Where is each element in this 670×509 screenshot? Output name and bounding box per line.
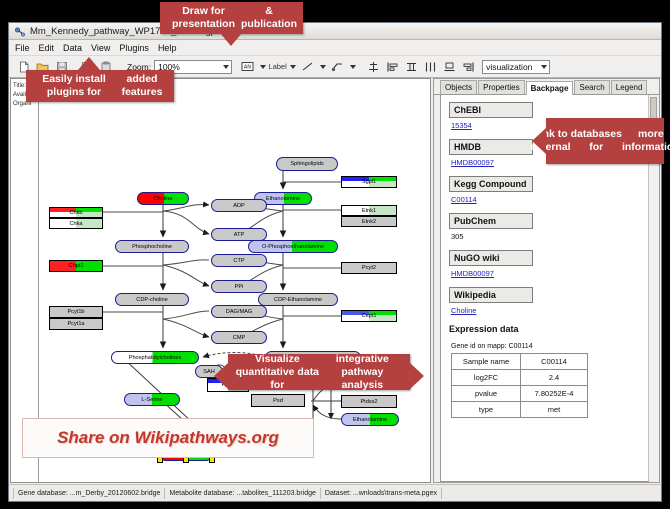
metabolite-node-o-phosphoethanolamine[interactable]: O-Phosphoethanolamine xyxy=(248,240,338,253)
chevron-down-icon xyxy=(320,65,326,69)
section-header-chebi: ChEBI xyxy=(449,102,533,118)
tab-backpage[interactable]: Backpage xyxy=(526,81,574,95)
menu-item-data[interactable]: Data xyxy=(63,43,82,53)
screenshot-root: Mm_Kennedy_pathway_WP1771_45176.gpml Fil… xyxy=(0,0,670,509)
node-label: Ethanolamine xyxy=(266,196,300,202)
chevron-down-icon xyxy=(260,65,266,69)
gene-node-ptdss2[interactable]: Ptdss2 xyxy=(341,395,397,408)
gene-node-chpt1[interactable]: Chpt1 xyxy=(49,260,103,272)
interaction-dropdown[interactable] xyxy=(347,57,358,76)
chevron-down-icon xyxy=(350,65,356,69)
gene-node-etnk1[interactable]: Etnk1 xyxy=(341,205,397,216)
gene-node-pcyt1a[interactable]: Pcyt1a xyxy=(49,318,103,330)
gene-node-cept1[interactable]: Cept1 xyxy=(341,310,397,322)
expr-value: met xyxy=(521,402,588,418)
status-dataset: Dataset: ...wnloads\trans-meta.pgex xyxy=(321,488,442,499)
node-label: Cept1 xyxy=(362,313,377,319)
status-metabolite-database: Metabolite database: ...tabolites_111203… xyxy=(165,488,320,499)
metabolite-node-sphingolipids[interactable]: Sphingolipids xyxy=(276,157,338,171)
align-right-icon[interactable] xyxy=(459,57,478,76)
section-header-kegg: Kegg Compound xyxy=(449,176,533,192)
node-label: Ethanolamine xyxy=(353,417,387,423)
section-header-hmdb: HMDB xyxy=(449,139,533,155)
expression-table: Sample name C00114 log2FC 2.4 pvalue 7.8… xyxy=(451,353,588,418)
gene-node-etnk2[interactable]: Etnk2 xyxy=(341,216,397,227)
chevron-down-icon xyxy=(541,65,547,69)
interaction-icon[interactable] xyxy=(328,57,347,76)
pubchem-value: 305 xyxy=(451,232,640,241)
expr-key: type xyxy=(452,402,521,418)
gene-node-psd[interactable]: Psd xyxy=(251,394,305,407)
node-label: Sphingolipids xyxy=(290,161,323,167)
expr-key: log2FC xyxy=(452,370,521,386)
node-label: Ptdss2 xyxy=(360,399,377,405)
callout-plugins: Easily install plugins foradded features xyxy=(26,70,174,102)
node-label: CMP xyxy=(233,335,245,341)
gene-id-line: Gene id on mapp: C00114 xyxy=(451,343,640,350)
node-label: Phosphatidylcholines xyxy=(129,355,182,361)
node-label: Pcyt2 xyxy=(362,265,376,271)
gene-node-chka[interactable]: Chka xyxy=(49,218,103,229)
share-text: Share on Wikipathways.org xyxy=(57,428,279,448)
callout-draw-arrow xyxy=(220,33,242,46)
menu-item-edit[interactable]: Edit xyxy=(39,43,55,53)
expr-key: Sample name xyxy=(452,354,521,370)
wikipedia-link[interactable]: Choline xyxy=(451,306,640,315)
metabolite-node-phosphatidylcholines[interactable]: Phosphatidylcholines xyxy=(111,351,199,364)
node-label: Pcyt1a xyxy=(67,321,84,327)
expr-value: C00114 xyxy=(521,354,588,370)
node-label: Pcyt1b xyxy=(67,309,84,315)
gene-node-pcyt2[interactable]: Pcyt2 xyxy=(341,262,397,274)
expr-key: pvalue xyxy=(452,386,521,402)
table-row: type met xyxy=(452,402,588,418)
table-row: log2FC 2.4 xyxy=(452,370,588,386)
node-label: CDP-choline xyxy=(136,297,167,303)
callout-draw: Draw for presentation& publication xyxy=(160,2,303,34)
callout-share: Share on Wikipathways.org xyxy=(22,418,314,458)
node-label: ATP xyxy=(234,232,244,238)
node-label: Choline xyxy=(154,196,173,202)
tab-legend[interactable]: Legend xyxy=(611,80,648,94)
table-row: pvalue 7.80252E-4 xyxy=(452,386,588,402)
node-label: O-Phosphoethanolamine xyxy=(262,244,324,250)
node-label: Sgpl1 xyxy=(362,179,376,185)
node-label: PPi xyxy=(235,284,244,290)
node-label: CTP xyxy=(233,258,244,264)
node-label: Etnk1 xyxy=(362,208,376,214)
node-label: Psd xyxy=(273,398,283,404)
node-label: Phosphocholine xyxy=(132,244,172,250)
node-label: DAG/MAG xyxy=(226,309,252,315)
menu-item-file[interactable]: File xyxy=(15,43,30,53)
tab-search[interactable]: Search xyxy=(574,80,609,94)
menu-bar[interactable]: File Edit Data View Plugins Help xyxy=(9,40,661,56)
label-dropdown[interactable] xyxy=(287,57,298,76)
status-gene-database: Gene database: ...m_Derby_20120602.bridg… xyxy=(13,488,165,499)
label-icon[interactable]: Label xyxy=(268,57,287,76)
expression-data-heading: Expression data xyxy=(449,324,640,334)
distribute-vertical-icon[interactable] xyxy=(402,57,421,76)
app-icon xyxy=(14,26,25,37)
metabolite-node-ethanolamine-bottom[interactable]: Ethanolamine xyxy=(341,413,399,426)
metabolite-node-ctp[interactable]: CTP xyxy=(211,254,267,267)
gene-node-chkb[interactable]: Chkb xyxy=(49,207,103,218)
nugo-link[interactable]: HMDB00097 xyxy=(451,269,640,278)
chevron-down-icon xyxy=(223,65,229,69)
line-dropdown[interactable] xyxy=(317,57,328,76)
callout-plugins-arrow xyxy=(78,57,100,70)
table-row: Sample name C00114 xyxy=(452,354,588,370)
node-label: Chkb xyxy=(69,210,82,216)
expr-value: 7.80252E-4 xyxy=(521,386,588,402)
datanode-dropdown[interactable] xyxy=(257,57,268,76)
section-header-nugo: NuGO wiki xyxy=(449,250,533,266)
tab-objects[interactable]: Objects xyxy=(440,80,477,94)
align-center-icon[interactable] xyxy=(364,57,383,76)
metabolite-node-cmp[interactable]: CMP xyxy=(211,331,267,344)
visualization-value: visualization xyxy=(486,62,532,72)
align-bottom-icon[interactable] xyxy=(440,57,459,76)
datanode-icon[interactable]: AN xyxy=(238,57,257,76)
align-left-icon[interactable] xyxy=(383,57,402,76)
status-bar: Gene database: ...m_Derby_20120602.bridg… xyxy=(9,484,661,501)
svg-text:AN: AN xyxy=(244,65,251,71)
kegg-link[interactable]: C00114 xyxy=(451,195,640,204)
side-panel-tabs[interactable]: Objects Properties Backpage Search Legen… xyxy=(434,79,659,95)
metabolite-node-cdp-choline[interactable]: CDP-choline xyxy=(115,293,189,306)
distribute-horizontal-icon[interactable] xyxy=(421,57,440,76)
node-label: L-Serine xyxy=(141,397,162,403)
metabolite-node-ppi[interactable]: PPi xyxy=(211,280,267,293)
metabolite-node-phosphocholine[interactable]: Phosphocholine xyxy=(115,240,189,253)
section-header-wikipedia: Wikipedia xyxy=(449,287,533,303)
metabolite-node-choline-top[interactable]: Choline xyxy=(137,192,189,205)
title-bar: Mm_Kennedy_pathway_WP1771_45176.gpml xyxy=(9,23,661,40)
callout-link-arrow xyxy=(532,128,546,154)
gene-node-sgpl1[interactable]: Sgpl1 xyxy=(341,176,397,188)
node-label: ADP xyxy=(233,203,245,209)
line-icon[interactable] xyxy=(298,57,317,76)
tab-properties[interactable]: Properties xyxy=(478,80,524,94)
menu-item-view[interactable]: View xyxy=(91,43,110,53)
metabolite-node-adp[interactable]: ADP xyxy=(211,199,267,212)
menu-item-plugins[interactable]: Plugins xyxy=(119,43,149,53)
metabolite-node-cdp-ethanolamine[interactable]: CDP-Ethanolamine xyxy=(258,293,338,306)
node-label: CDP-Ethanolamine xyxy=(274,297,322,303)
metabolite-node-dag-mag[interactable]: DAG/MAG xyxy=(211,305,267,318)
node-label: Etnk2 xyxy=(362,219,376,225)
section-header-pubchem: PubChem xyxy=(449,213,533,229)
gene-node-pcyt1b[interactable]: Pcyt1b xyxy=(49,306,103,318)
metabolite-node-l-serine-left[interactable]: L-Serine xyxy=(124,393,180,406)
visualization-combo[interactable]: visualization xyxy=(482,60,550,74)
node-label: Chka xyxy=(69,221,82,227)
menu-item-help[interactable]: Help xyxy=(158,43,177,53)
callout-link: Link to externaldatabases formore inform… xyxy=(546,118,664,164)
callout-visualize-arrow-left xyxy=(214,363,228,389)
callout-visualize: Visualize quantitative data forintegrati… xyxy=(228,354,410,390)
callout-visualize-arrow-right xyxy=(410,363,424,389)
expr-value: 2.4 xyxy=(521,370,588,386)
chevron-down-icon xyxy=(290,65,296,69)
node-label: Chpt1 xyxy=(69,263,84,269)
